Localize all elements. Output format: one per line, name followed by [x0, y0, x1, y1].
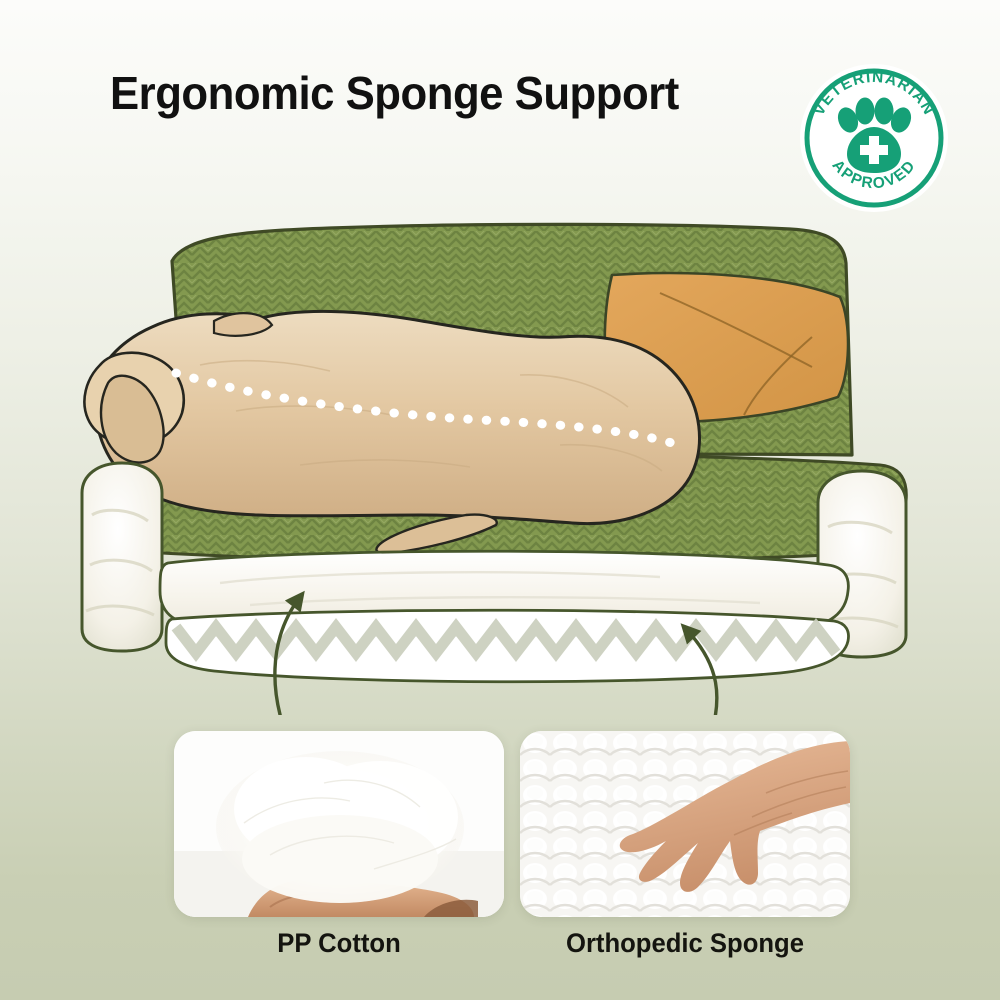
veterinarian-approved-badge: VETERINARIAN APPROVED [798, 62, 950, 214]
pp-cotton-caption: PP Cotton [182, 928, 496, 959]
product-feature-graphic: Ergonomic Sponge Support VETERINARIAN AP… [0, 0, 1000, 1000]
left-bolster-arm [82, 463, 162, 651]
orthopedic-sponge-photo-card [520, 731, 850, 917]
illustration-dog-on-sofa-bed [0, 215, 1000, 715]
page-title: Ergonomic Sponge Support [110, 66, 775, 120]
pp-cotton-photo-card [174, 731, 504, 917]
orthopedic-sponge-layer [166, 610, 848, 682]
pp-cotton-fiber-in-hand-photo [174, 731, 504, 917]
orthopedic-sponge-caption: Orthopedic Sponge [528, 928, 842, 959]
orthopedic-egg-crate-foam-hand-photo [520, 731, 850, 917]
